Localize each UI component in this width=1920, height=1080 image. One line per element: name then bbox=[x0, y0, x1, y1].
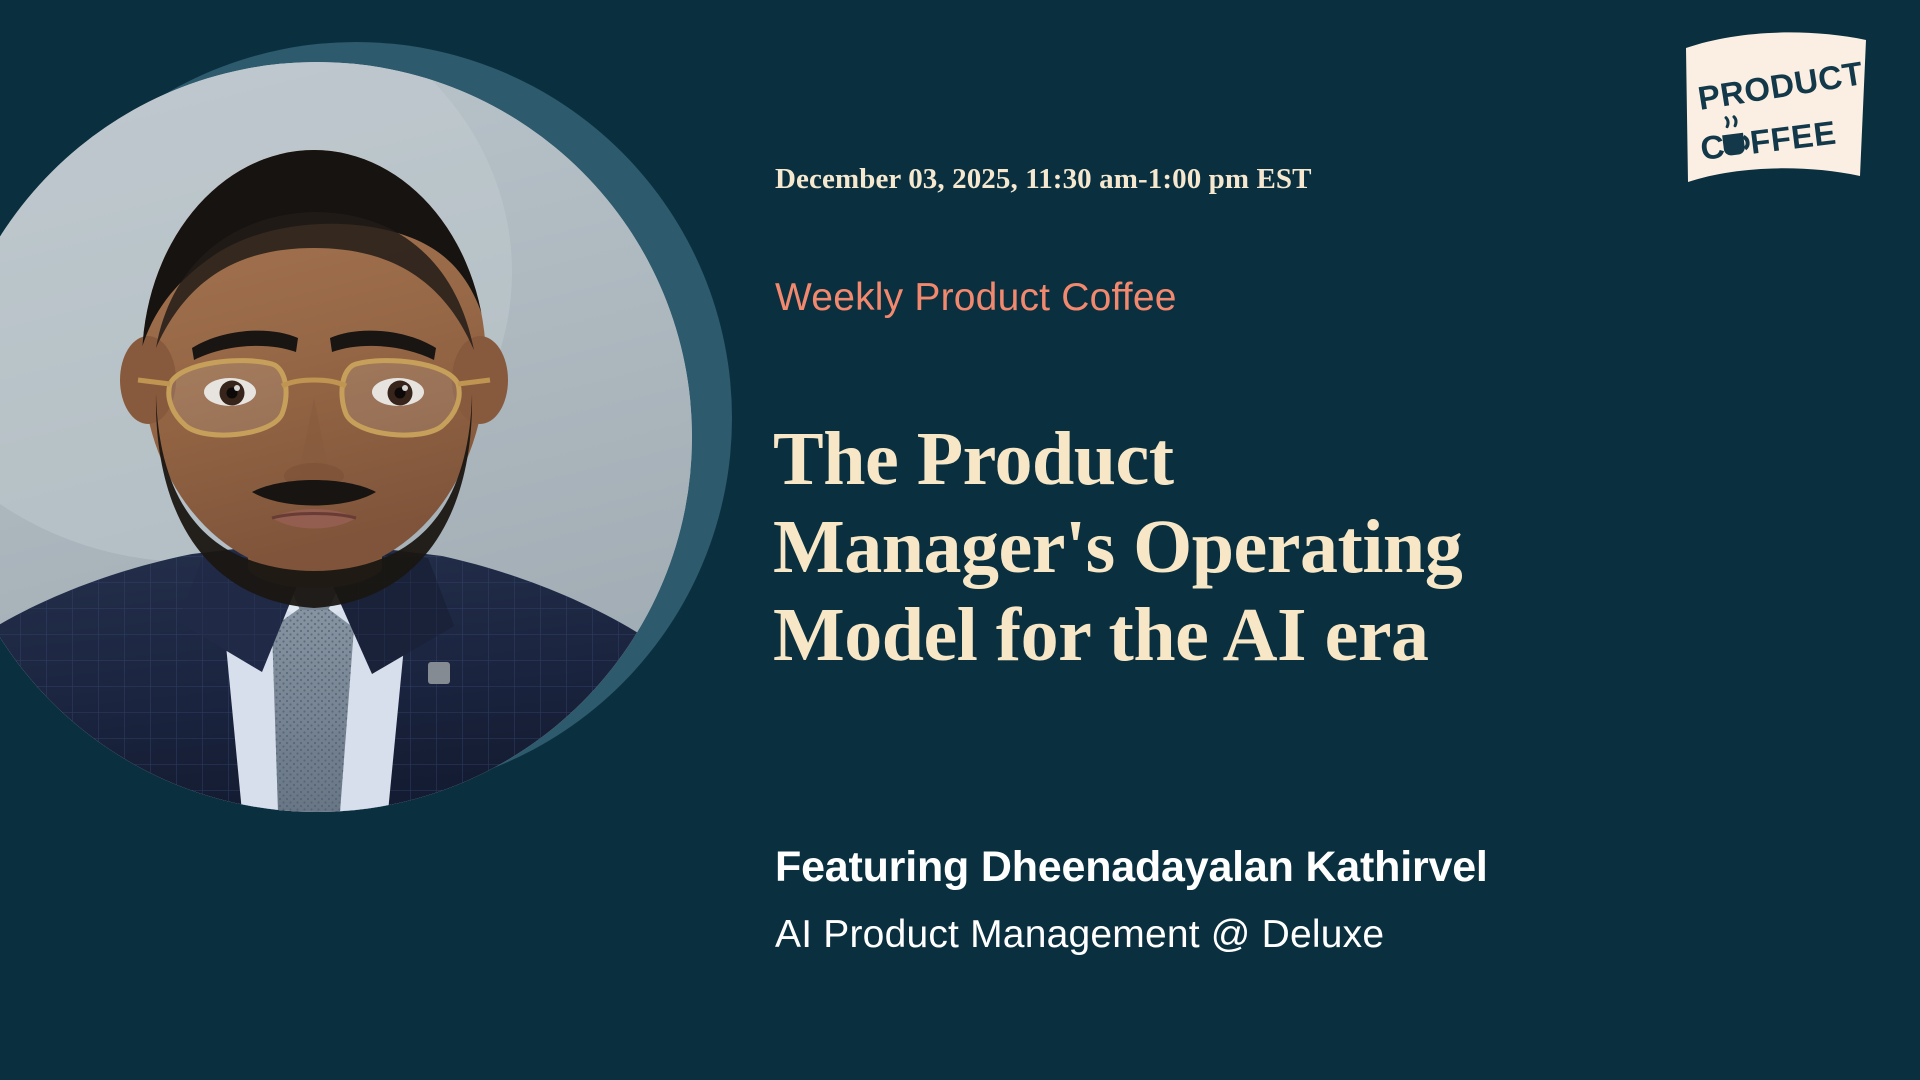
speaker-role: AI Product Management @ Deluxe bbox=[775, 913, 1384, 957]
logo-line-coffee-c: C bbox=[1698, 127, 1727, 167]
event-title-line: The Product bbox=[773, 415, 1833, 503]
speaker-name: Featuring Dheenadayalan Kathirvel bbox=[775, 843, 1488, 892]
product-coffee-logo: PRODUCT C FFEE bbox=[1680, 26, 1872, 194]
event-title-line: Model for the AI era bbox=[773, 591, 1833, 679]
event-title: The Product Manager's Operating Model fo… bbox=[773, 415, 1833, 679]
event-title-line: Manager's Operating bbox=[773, 503, 1833, 591]
event-date-time: December 03, 2025, 11:30 am-1:00 pm EST bbox=[775, 163, 1312, 196]
event-promo-poster: December 03, 2025, 11:30 am-1:00 pm EST … bbox=[0, 0, 1920, 1080]
event-details: December 03, 2025, 11:30 am-1:00 pm EST … bbox=[775, 0, 1825, 1080]
speaker-photo-block bbox=[0, 0, 760, 1080]
event-series-name: Weekly Product Coffee bbox=[775, 276, 1177, 320]
